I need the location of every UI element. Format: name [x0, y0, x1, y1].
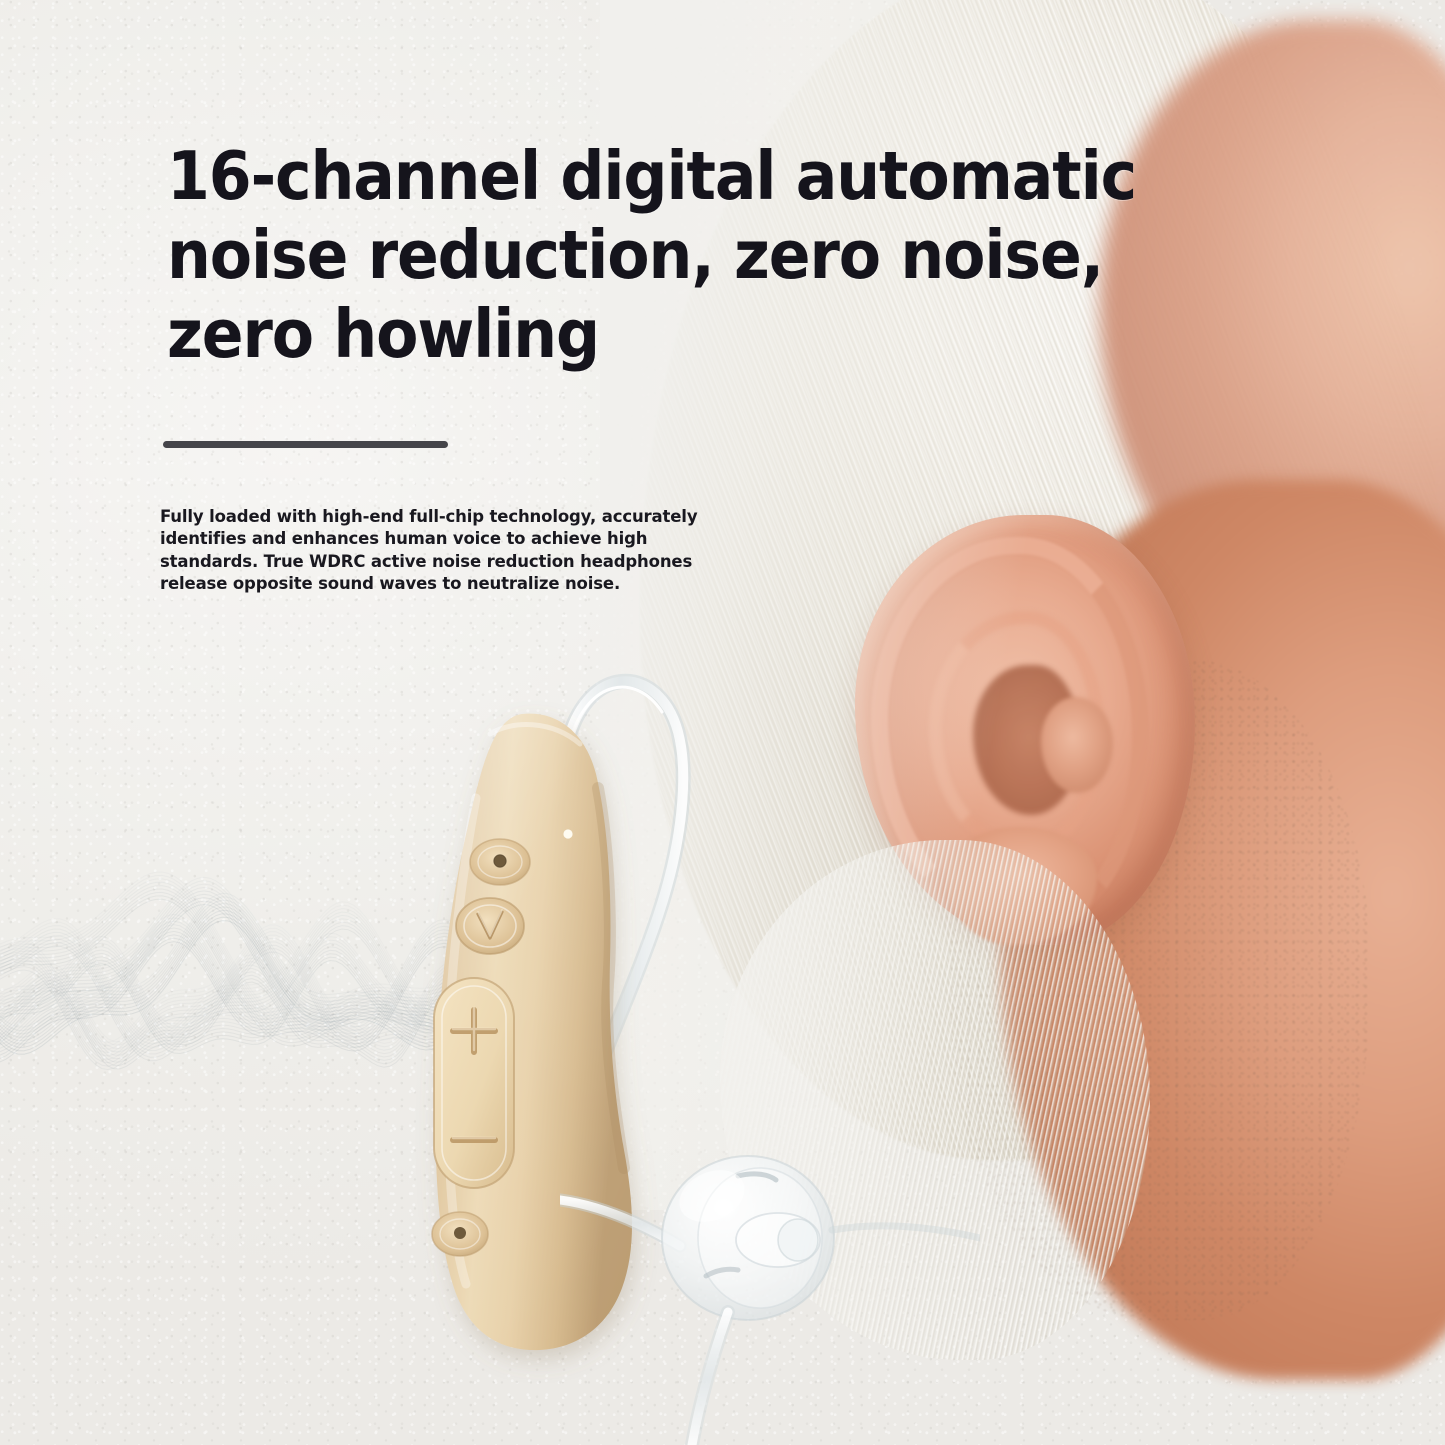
product-banner: 16-channel digital automatic noise reduc…: [0, 0, 1445, 1445]
page-title: 16-channel digital automatic noise reduc…: [167, 137, 1142, 374]
ear-dome-assembly: [560, 1080, 980, 1445]
body-paragraph: Fully loaded with high-end full-chip tec…: [160, 506, 705, 596]
program-button[interactable]: [456, 898, 524, 954]
mic-port-top-icon: [470, 839, 530, 885]
volume-rocker[interactable]: [434, 978, 514, 1188]
divider: [163, 441, 448, 448]
volume-down-icon[interactable]: [453, 1138, 495, 1140]
mic-port-bottom-icon: [432, 1212, 488, 1256]
dome-retention-tail: [692, 1312, 728, 1445]
led-indicator-icon: [563, 829, 572, 838]
